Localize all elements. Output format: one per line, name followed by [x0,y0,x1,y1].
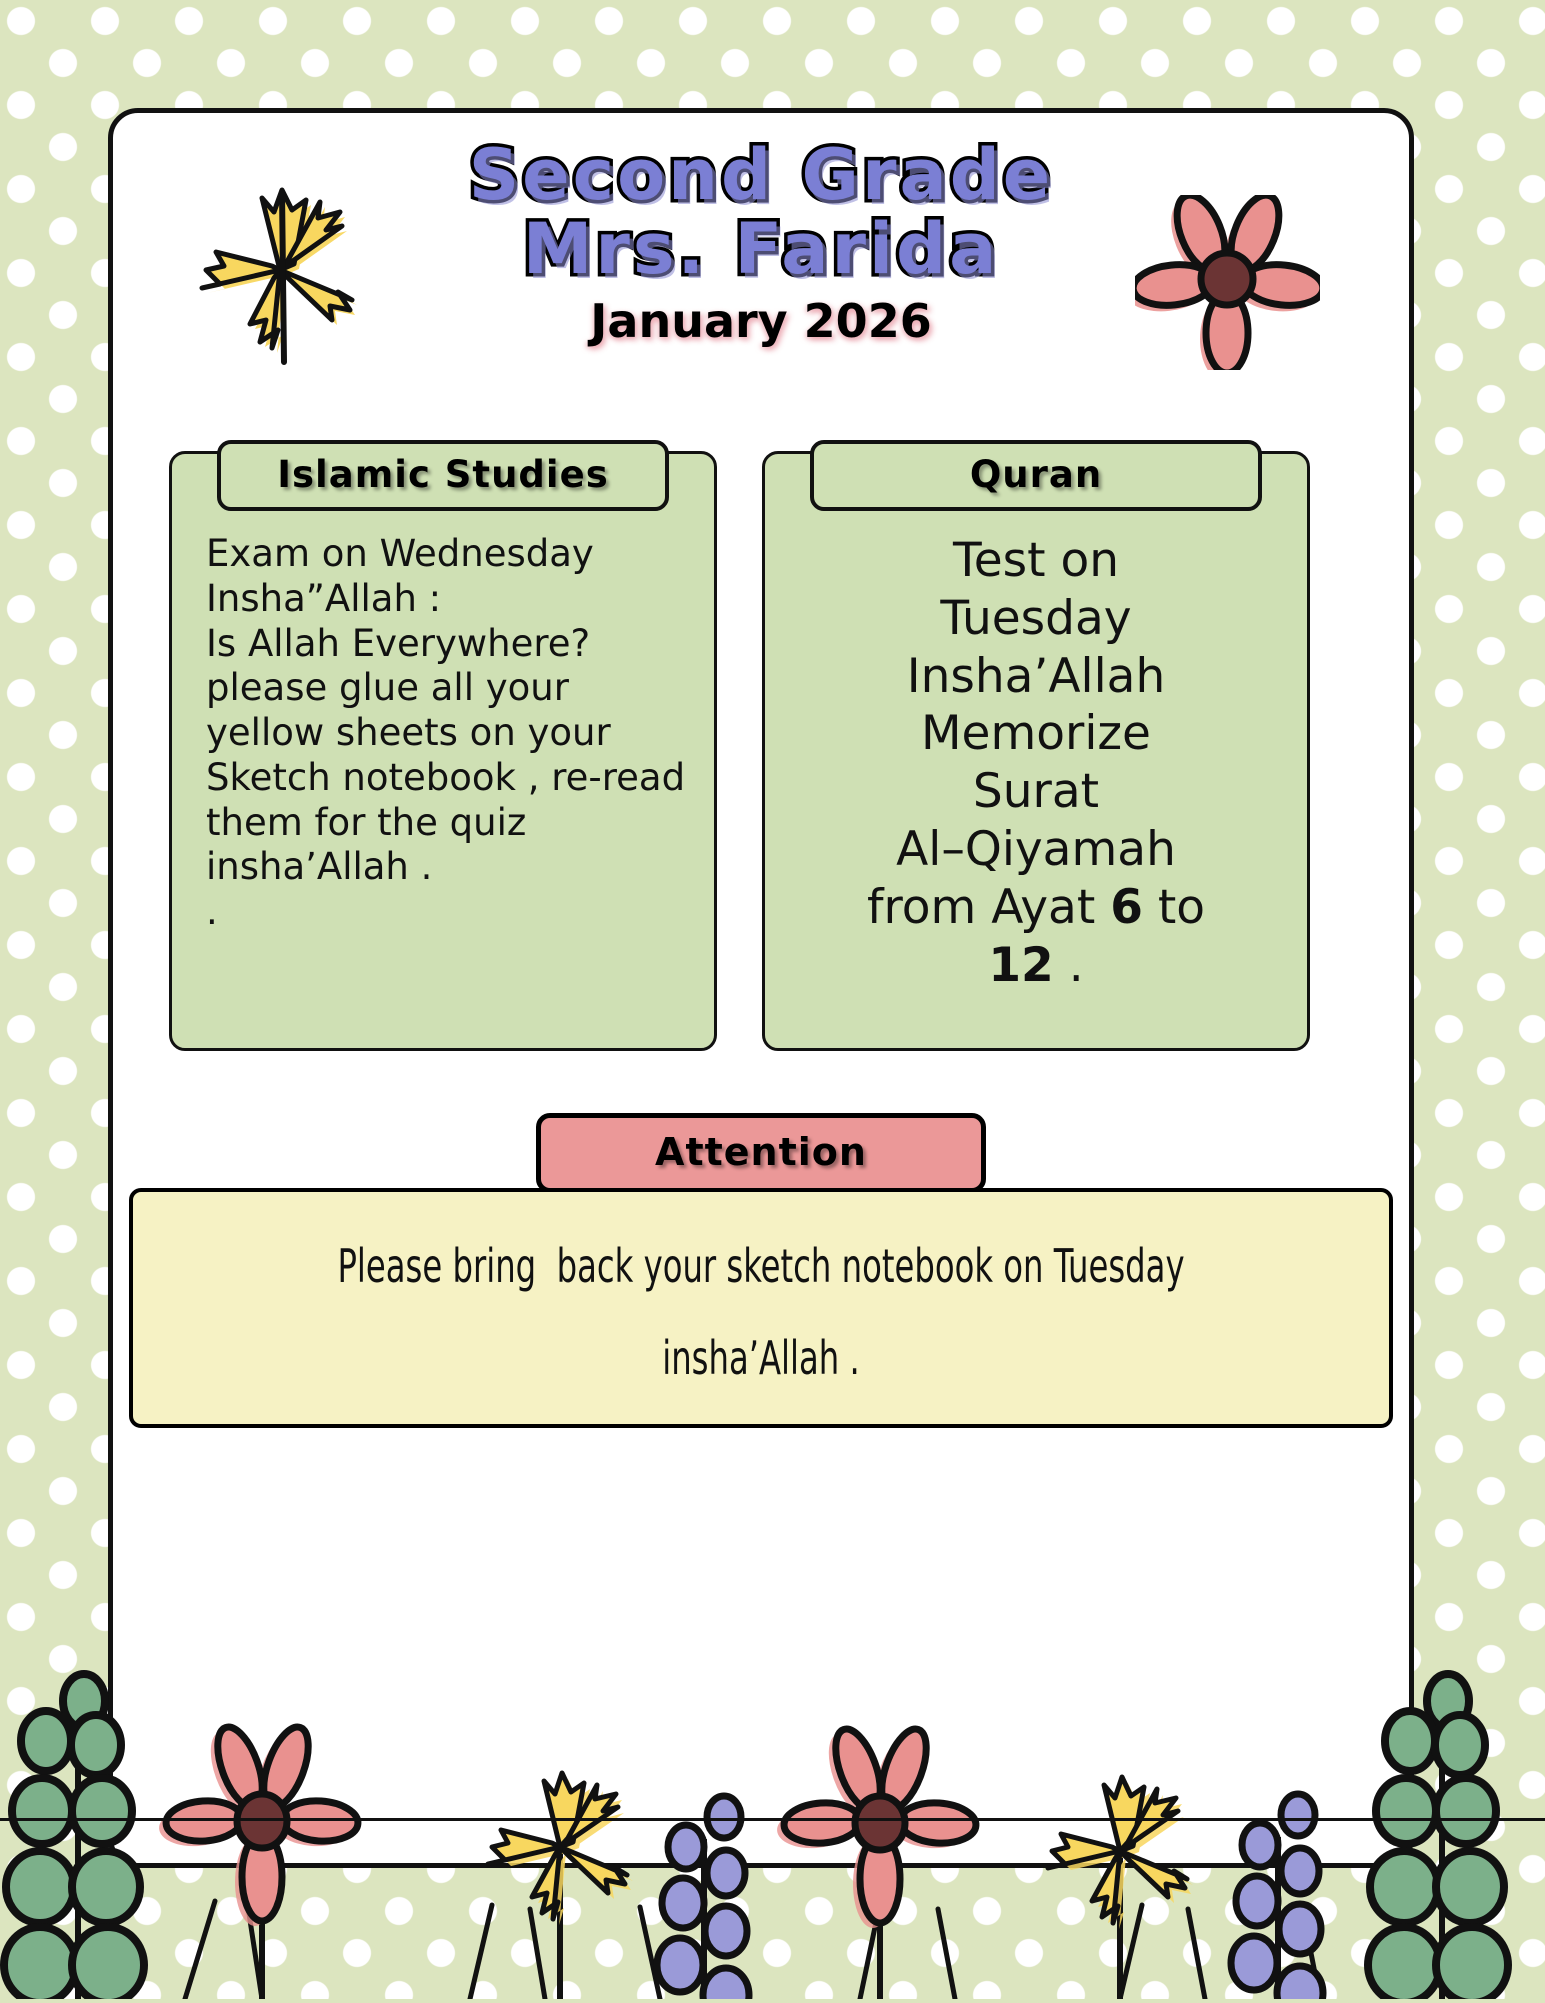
quran-text-pre: Test on Tuesday InshaʼAllah Memorize Sur… [867,533,1176,935]
quran-ayat-from: 6 [1110,880,1143,935]
attention-label: Attention [655,1130,867,1174]
notice-line-1: Please bring back your sketch notebook o… [295,1220,1228,1312]
panel-heading-label: Islamic Studies [277,453,608,496]
subject-panels: Islamic Studies Exam on Wednesday Insha”… [169,451,1353,1051]
notice-line-2: inshaʼAllah . [295,1312,1228,1404]
panel-body-quran: Test on Tuesday InshaʼAllah Memorize Sur… [791,532,1281,994]
panel-body-islamic-studies: Exam on Wednesday Insha”Allah : Is Allah… [198,532,688,935]
panel-heading-quran: Quran [810,440,1262,511]
quran-ayat-to: 12 [988,938,1053,993]
notice-box: Please bring back your sketch notebook o… [129,1188,1393,1428]
attention-banner: Attention [536,1113,986,1193]
yellow-flower-icon [195,175,365,369]
panel-heading-islamic-studies: Islamic Studies [217,440,669,511]
quran-text-post: . [1054,938,1084,993]
panel-quran: Quran Test on Tuesday InshaʼAllah Memori… [762,451,1310,1051]
quran-text-mid: to [1143,880,1205,935]
ground-line [0,1818,1545,1821]
pink-flower-icon [1135,195,1320,374]
panel-islamic-studies: Islamic Studies Exam on Wednesday Insha”… [169,451,717,1051]
panel-heading-label: Quran [970,453,1102,496]
